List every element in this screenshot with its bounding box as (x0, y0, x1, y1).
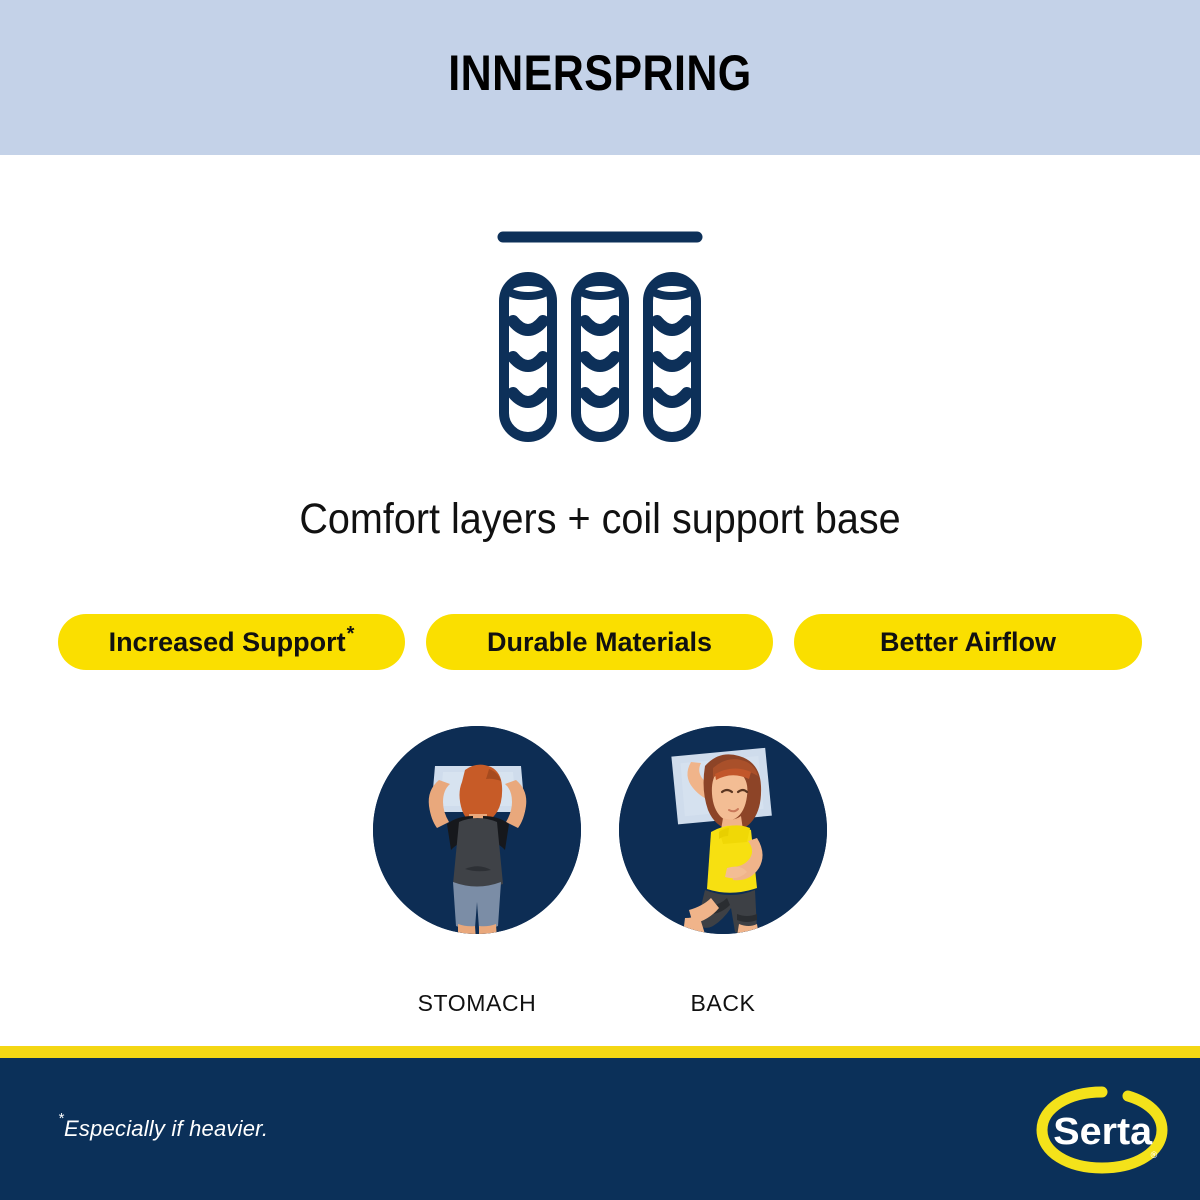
feature-pill-label: Increased Support (109, 627, 346, 658)
sleep-position-stomach[interactable]: STOMACH (352, 726, 602, 1017)
back-sleeper-illustration (619, 726, 827, 934)
footnote-text: *Especially if heavier. (58, 1116, 268, 1142)
footnote-body: Especially if heavier. (64, 1116, 268, 1141)
serta-logo[interactable]: Serta ® (1032, 1082, 1172, 1178)
sleep-position-label-back: BACK (598, 990, 848, 1017)
registered-trademark-mark: ® (1151, 1150, 1158, 1160)
feature-pill-durable-materials[interactable]: Durable Materials (426, 614, 773, 670)
coil-stack-icon (460, 215, 740, 455)
feature-pill-label: Durable Materials (487, 627, 712, 658)
page-title: INNERSPRING (84, 44, 1116, 102)
stomach-sleeper-illustration (373, 726, 581, 934)
stomach-sleeper-circle (373, 726, 581, 934)
feature-pill-increased-support[interactable]: Increased Support* (58, 614, 405, 670)
sleep-position-back[interactable]: BACK (598, 726, 848, 1017)
sleep-position-row: STOMACH (0, 726, 1200, 1026)
infographic-canvas: INNERSPRING (0, 0, 1200, 1200)
coil-stack-icon-svg (460, 215, 740, 455)
sleep-position-label-stomach: STOMACH (352, 990, 602, 1017)
feature-pill-row: Increased Support* Durable Materials Bet… (58, 614, 1142, 670)
feature-pill-label: Better Airflow (880, 627, 1056, 658)
serta-logo-svg: Serta ® (1032, 1082, 1172, 1178)
footnote-asterisk: * (58, 1110, 64, 1127)
footer-accent-stripe (0, 1046, 1200, 1058)
subtitle-text: Comfort layers + coil support base (48, 495, 1152, 544)
feature-pill-better-airflow[interactable]: Better Airflow (794, 614, 1142, 670)
back-sleeper-circle (619, 726, 827, 934)
serta-wordmark: Serta (1053, 1111, 1152, 1153)
